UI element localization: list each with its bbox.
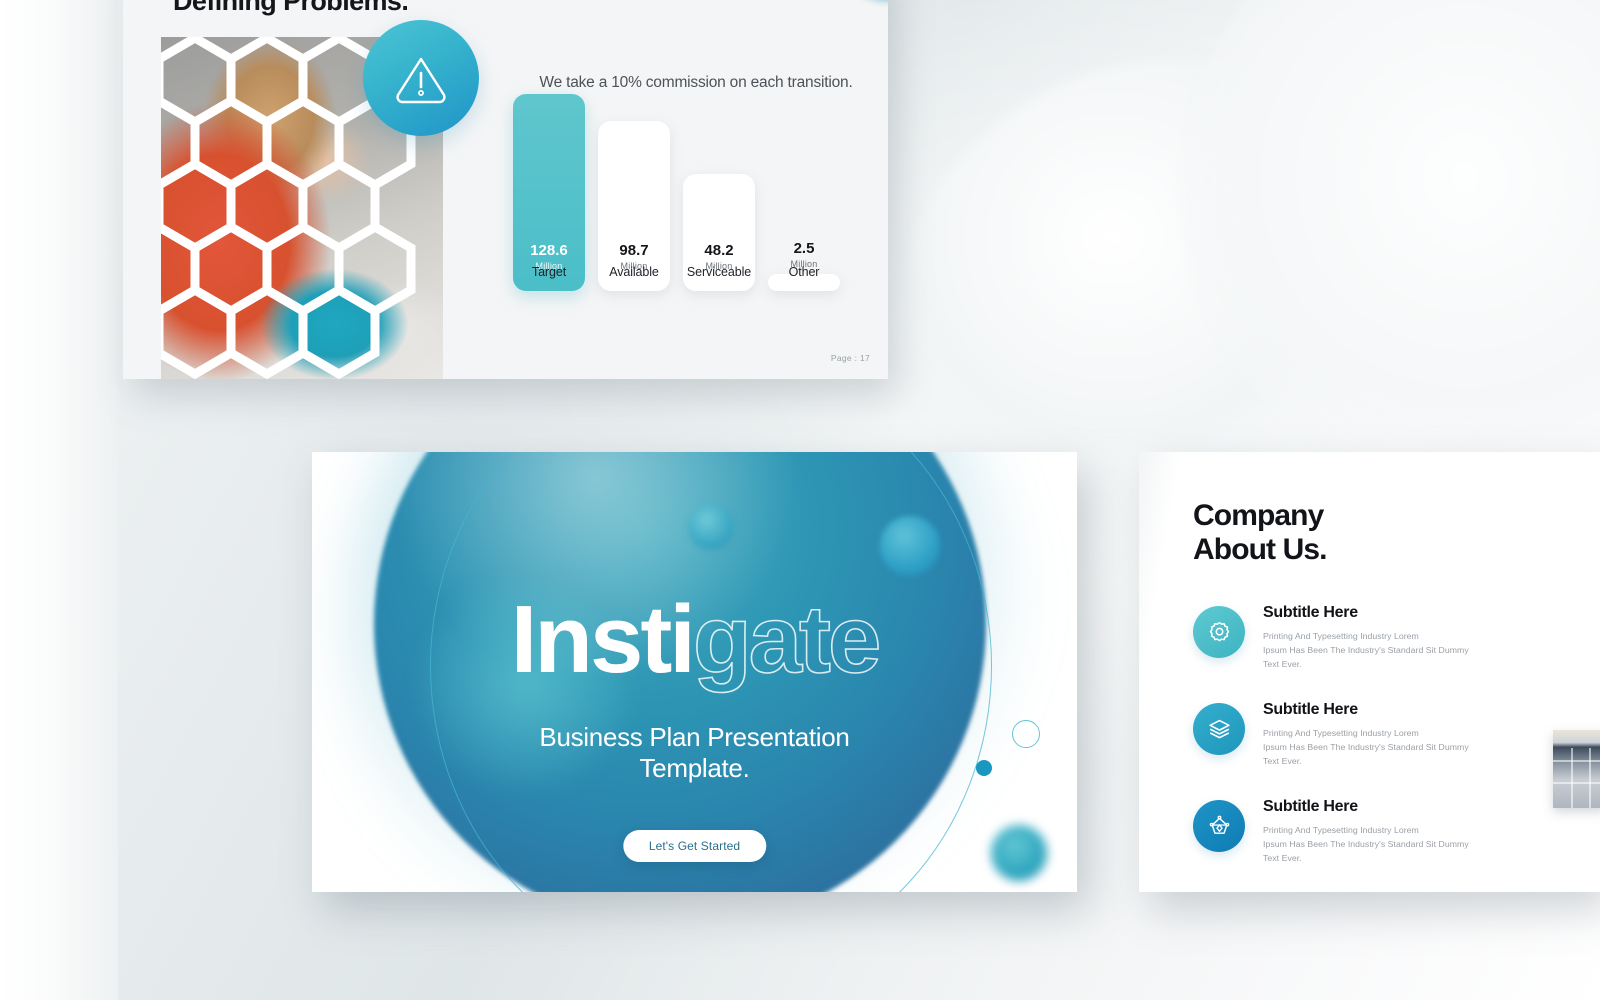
about-title: Company About Us. [1193, 499, 1327, 566]
list-item[interactable]: Subtitle Here Printing And Typesetting I… [1193, 798, 1583, 892]
bar-value-number: 2.5 [768, 241, 840, 257]
brand-wordmark: Instigate [312, 592, 1077, 688]
background-left-fade [0, 0, 118, 1000]
bar-label-other: Other [754, 265, 854, 279]
layers-icon [1193, 703, 1245, 755]
about-feature-list: Subtitle Here Printing And Typesetting I… [1193, 604, 1583, 892]
slide-title-instigate[interactable]: Instigate Business Plan Presentation Tem… [312, 452, 1077, 892]
list-item-text: Subtitle Here Printing And Typesetting I… [1263, 604, 1583, 671]
decorative-bubble-2 [880, 516, 940, 576]
about-title-line1: Company [1193, 499, 1327, 533]
gear-icon [1193, 606, 1245, 658]
list-item[interactable]: Subtitle Here Printing And Typesetting I… [1193, 701, 1583, 798]
brand-wordmark-solid: Insti [511, 586, 693, 693]
page-number: Page : 17 [831, 353, 870, 363]
page-title: Defining Problems. [173, 0, 408, 17]
slide-company-about-us[interactable]: Company About Us. Subtitle Here Printing… [1139, 452, 1600, 892]
list-item[interactable]: Subtitle Here Printing And Typesetting I… [1193, 604, 1583, 701]
brand-wordmark-outline: gate [693, 586, 878, 693]
pen-tool-icon [1193, 800, 1245, 852]
list-item-subtitle: Subtitle Here [1263, 798, 1583, 816]
chart-caption: We take a 10% commission on each transit… [516, 74, 876, 92]
list-item-body: Printing And Typesetting Industry Lorem … [1263, 726, 1583, 768]
decorative-bubble-3 [991, 825, 1047, 881]
list-item-subtitle: Subtitle Here [1263, 701, 1583, 719]
list-item-text: Subtitle Here Printing And Typesetting I… [1263, 701, 1583, 768]
list-item-subtitle: Subtitle Here [1263, 604, 1583, 622]
screenshot-stage: Defining Problems. [0, 0, 1600, 1000]
bar-value-number: 98.7 [598, 243, 670, 259]
title-subtitle: Business Plan Presentation Template. [312, 722, 1077, 783]
slide-defining-problems[interactable]: Defining Problems. [123, 0, 888, 379]
title-subtitle-line1: Business Plan Presentation [312, 722, 1077, 753]
edge-clipped-photo [1553, 730, 1600, 808]
list-item-body: Printing And Typesetting Industry Lorem … [1263, 823, 1583, 865]
decorative-bubble-1 [688, 504, 734, 550]
title-subtitle-line2: Template. [312, 753, 1077, 784]
photo-left-mask [123, 37, 161, 379]
list-item-text: Subtitle Here Printing And Typesetting I… [1263, 798, 1583, 865]
bar-chart: 128.6 Million Target 98.7 Million Availa… [509, 112, 869, 337]
get-started-button[interactable]: Let's Get Started [623, 830, 766, 862]
list-item-body: Printing And Typesetting Industry Lorem … [1263, 629, 1583, 671]
warning-triangle-icon [363, 20, 479, 136]
bar-value-number: 48.2 [683, 243, 755, 259]
bar-value-number: 128.6 [513, 243, 585, 259]
about-title-line2: About Us. [1193, 533, 1327, 567]
